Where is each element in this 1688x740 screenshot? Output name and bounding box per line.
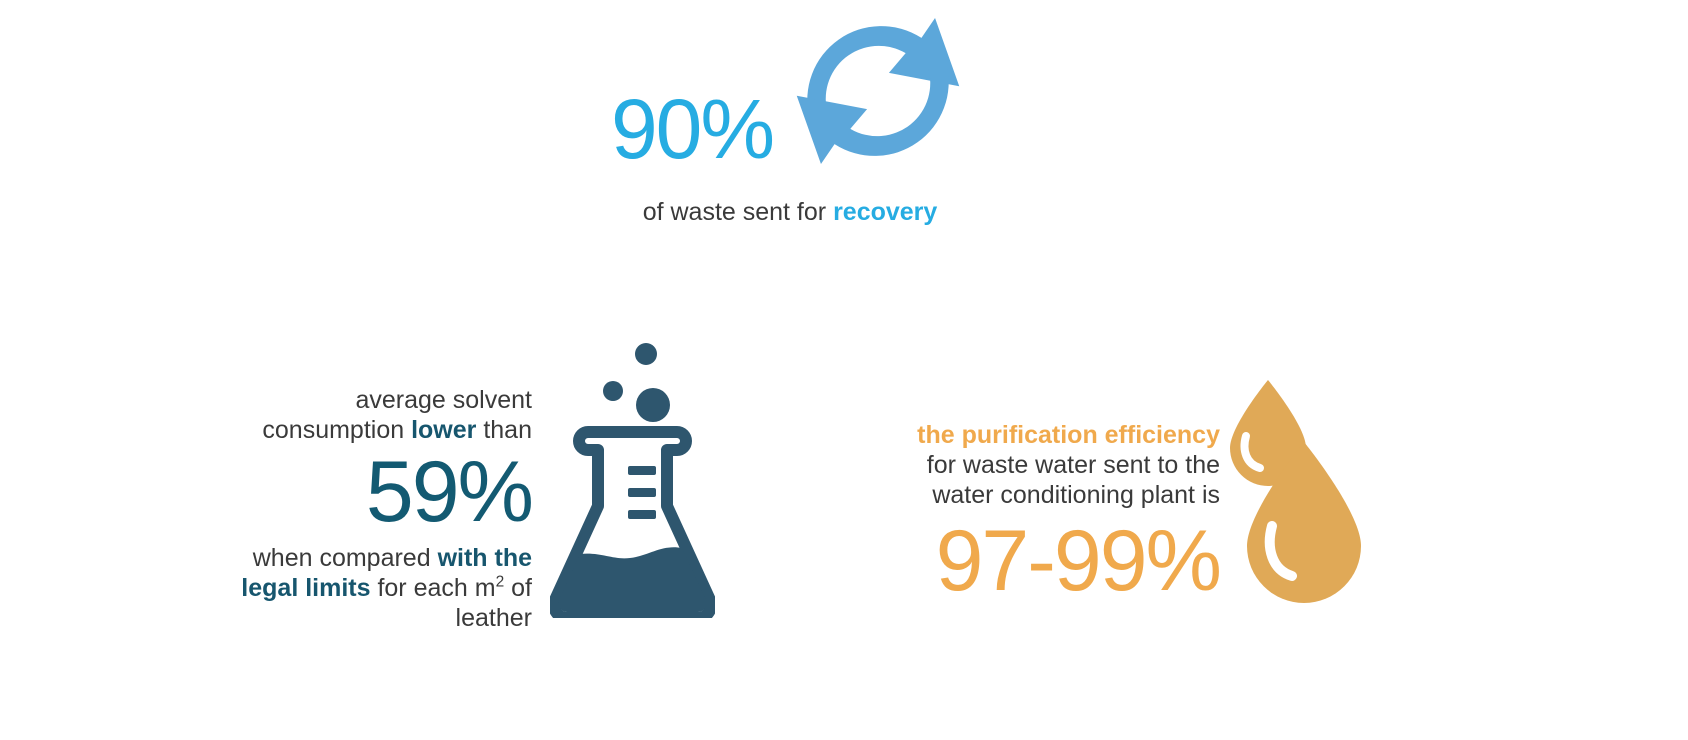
solvent-line-4-emphasis: legal limits	[241, 574, 370, 602]
solvent-line-4-superscript: 2	[496, 574, 505, 591]
solvent-line-4: legal limits for each m2 of	[120, 573, 532, 603]
recovery-caption-prefix: of waste sent for	[643, 198, 833, 226]
solvent-line-1: average solvent	[120, 385, 532, 415]
solvent-text-group: average solvent consumption lower than 5…	[120, 385, 532, 633]
stat-block-water: the purification efficiency for waste wa…	[820, 360, 1440, 650]
recovery-stat-value: 90%	[611, 87, 773, 171]
flask-graduation-1	[628, 466, 656, 475]
solvent-line-3-emphasis: with the	[438, 544, 532, 572]
solvent-stat-value: 59%	[120, 449, 532, 535]
infographic-canvas: 90% of waste sent for recovery average s…	[0, 0, 1688, 740]
flask-liquid	[558, 547, 706, 612]
recovery-headline-row: 90%	[430, 60, 1150, 190]
recovery-caption-emphasis: recovery	[833, 198, 937, 226]
solvent-line-4-tail: of	[504, 574, 532, 602]
solvent-line-2-suffix: than	[476, 416, 532, 444]
erlenmeyer-flask-icon	[550, 338, 715, 618]
flask-bubble-top	[635, 343, 657, 365]
solvent-line-3-prefix: when compared	[253, 544, 438, 572]
stat-block-recovery: 90% of waste sent for recovery	[430, 0, 1150, 260]
water-text-group: the purification efficiency for waste wa…	[820, 420, 1220, 604]
water-line-3: water conditioning plant is	[820, 480, 1220, 510]
water-droplets-icon	[1220, 374, 1365, 614]
flask-bubble-left	[603, 381, 623, 401]
recovery-caption: of waste sent for recovery	[430, 198, 1150, 227]
water-line-1: the purification efficiency	[820, 420, 1220, 450]
flask-graduation-2	[628, 488, 656, 497]
solvent-line-2-prefix: consumption	[262, 416, 411, 444]
solvent-line-5: leather	[120, 603, 532, 633]
solvent-line-3: when compared with the	[120, 543, 532, 573]
solvent-line-4-suffix: for each m	[371, 574, 496, 602]
recycle-arrows-icon	[779, 6, 969, 181]
stat-block-solvent: average solvent consumption lower than 5…	[120, 330, 720, 650]
water-line-2: for waste water sent to the	[820, 450, 1220, 480]
flask-bubble-large	[636, 388, 670, 422]
water-stat-value: 97-99%	[820, 518, 1220, 604]
solvent-line-2: consumption lower than	[120, 415, 532, 445]
solvent-line-2-emphasis: lower	[411, 416, 476, 444]
flask-graduation-3	[628, 510, 656, 519]
